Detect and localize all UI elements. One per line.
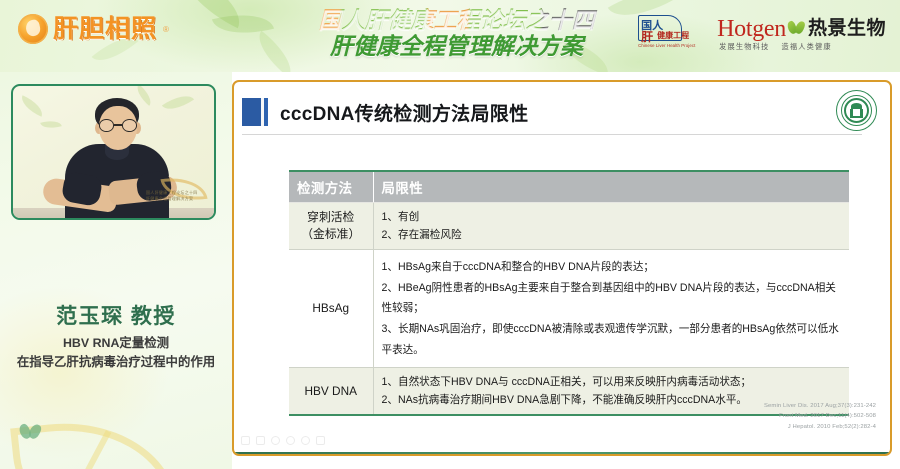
hotgen-wordmark: Hotgen: [717, 18, 786, 41]
lens-bridge: [114, 124, 122, 126]
cell-method: 穿刺活检 （金标准）: [289, 203, 373, 250]
logo-text-cn3: 健康工程: [657, 30, 689, 41]
butterfly-icon: [788, 21, 804, 36]
cell-method: HBV DNA: [289, 368, 373, 416]
page-header: 肝胆相照 ® 国人肝健康工程论坛之十四 肝健康全程管理解决方案 国人 肝 健康工…: [0, 0, 900, 72]
registered-mark: ®: [163, 25, 169, 34]
method-line1: 穿刺活检: [291, 209, 371, 226]
speaker-topic: HBV RNA定量检测 在指导乙肝抗病毒治疗过程中的作用: [4, 334, 228, 372]
limitations-table: 检测方法 局限性 穿刺活检 （金标准） 1、有创 2、存在漏检风险 HBsAg: [289, 170, 849, 416]
citation: Semin Liver Dis. 2017 Aug;37(3):231-242: [764, 401, 876, 411]
method-line2: （金标准）: [291, 226, 371, 243]
lens-left: [99, 119, 114, 132]
slide-title-bar: cccDNA传统检测方法局限性: [234, 90, 892, 134]
watermark-icon: [271, 436, 280, 445]
table-row: 穿刺活检 （金标准） 1、有创 2、存在漏检风险: [289, 203, 849, 250]
hotgen-tagline-1: 发展生物科技: [719, 42, 769, 52]
method-line1: HBsAg: [291, 300, 371, 317]
limitation-item: 1、自然状态下HBV DNA与 cccDNA正相关，可以用来反映肝内病毒活动状态…: [382, 373, 842, 391]
leaf-decoration-icon: [162, 89, 194, 117]
leaf-decoration-icon: [40, 117, 62, 131]
footer-strip: [232, 456, 900, 469]
forum-title-line1: 国人肝健康工程论坛之十四: [284, 8, 629, 33]
watermark-icon: [316, 436, 325, 445]
hotgen-logo-main: Hotgen 热景生物: [717, 13, 886, 41]
limitation-item: 3、长期NAs巩固治疗，即使cccDNA被清除或表观遗传学沉默，一部分患者的HB…: [382, 319, 842, 360]
watermark-icon: [241, 436, 250, 445]
watermark-icon: [286, 436, 295, 445]
cell-limitation: 1、HBsAg来自于cccDNA和整合的HBV DNA片段的表达； 2、HBeA…: [373, 250, 849, 368]
limitation-item: 1、有创: [382, 208, 842, 226]
speaker-video-thumbnail[interactable]: 国人肝健康工程论坛之十四 肝健康全程管理解决方案: [11, 84, 216, 220]
hotgen-tagline: 发展生物科技 造福人类健康: [717, 42, 886, 52]
reference-citations: Semin Liver Dis. 2017 Aug;37(3):231-242 …: [764, 401, 876, 432]
forum-title: 国人肝健康工程论坛之十四 肝健康全程管理解决方案: [284, 8, 629, 59]
right-edge-filler: [892, 72, 900, 469]
method-line1: HBV DNA: [291, 383, 371, 400]
gate-base: [850, 116, 863, 118]
column-header-method: 检测方法: [289, 171, 373, 203]
logo-text-en: Chinese Liver Health Project: [638, 43, 695, 48]
watermark-icon: [301, 436, 310, 445]
lens-right: [122, 119, 137, 132]
cell-limitation: 1、有创 2、存在漏检风险: [373, 203, 849, 250]
speaker-topic-line1: HBV RNA定量检测: [4, 334, 228, 353]
leaf-decoration-icon: [132, 84, 155, 106]
university-emblem-icon: [836, 90, 877, 131]
emblem-gate-icon: [850, 103, 863, 118]
cell-method: HBsAg: [289, 250, 373, 368]
title-accent-bar: [242, 98, 264, 126]
title-divider: [242, 134, 862, 135]
column-header-limitation: 局限性: [373, 171, 849, 203]
limitation-item: 1、HBsAg来自于cccDNA和整合的HBV DNA片段的表达；: [382, 257, 842, 278]
presentation-slide[interactable]: cccDNA传统检测方法局限性 检测方法 局限性 穿刺活检 （金标准）: [232, 80, 892, 456]
speaker-topic-line2: 在指导乙肝抗病毒治疗过程中的作用: [4, 353, 228, 372]
slide-title: cccDNA传统检测方法局限性: [280, 99, 528, 126]
hotgen-logo[interactable]: Hotgen 热景生物 发展生物科技 造福人类健康: [717, 13, 886, 52]
hotgen-tagline-2: 造福人类健康: [781, 42, 831, 52]
forum-title-line2: 肝健康全程管理解决方案: [284, 34, 629, 59]
eyeglasses-icon: [99, 119, 137, 132]
speaker-name: 范玉琛 教授: [0, 300, 232, 330]
watermark-icon: [256, 436, 265, 445]
video-corner-badge: 国人肝健康工程论坛之十四 肝健康全程管理解决方案: [144, 180, 210, 206]
liver-emblem-icon: [18, 14, 48, 44]
liver-health-project-logo[interactable]: 国人 肝 健康工程 Chinese Liver Health Project: [636, 11, 706, 53]
citation: Front Med. 2017 Dec;11(4):502-508: [764, 411, 876, 421]
sponsor-logos: 国人 肝 健康工程 Chinese Liver Health Project H…: [636, 11, 886, 53]
video-badge-line2: 肝健康全程管理解决方案: [146, 196, 193, 202]
leaf-decoration-icon: [18, 95, 47, 117]
table-header-row: 检测方法 局限性: [289, 171, 849, 203]
slide-watermark-icons: [241, 436, 325, 445]
limitation-item: 2、存在漏检风险: [382, 226, 842, 244]
brand-name: 肝胆相照: [53, 17, 157, 42]
speaker-sidebar: 国人肝健康工程论坛之十四 肝健康全程管理解决方案 范玉琛 教授 HBV RNA定…: [0, 72, 232, 469]
citation: J Hepatol. 2010 Feb;52(2):282-4: [764, 422, 876, 432]
hotgen-cn-name: 热景生物: [808, 13, 886, 40]
brand-logo[interactable]: 肝胆相照 ®: [18, 14, 169, 44]
slide-bottom-rule: [234, 452, 892, 454]
butterfly-watermark-icon: [20, 424, 40, 441]
limitation-item: 2、HBeAg阴性患者的HBsAg主要来自于整合到基因组中的HBV DNA片段的…: [382, 278, 842, 319]
table-row: HBsAg 1、HBsAg来自于cccDNA和整合的HBV DNA片段的表达； …: [289, 250, 849, 368]
